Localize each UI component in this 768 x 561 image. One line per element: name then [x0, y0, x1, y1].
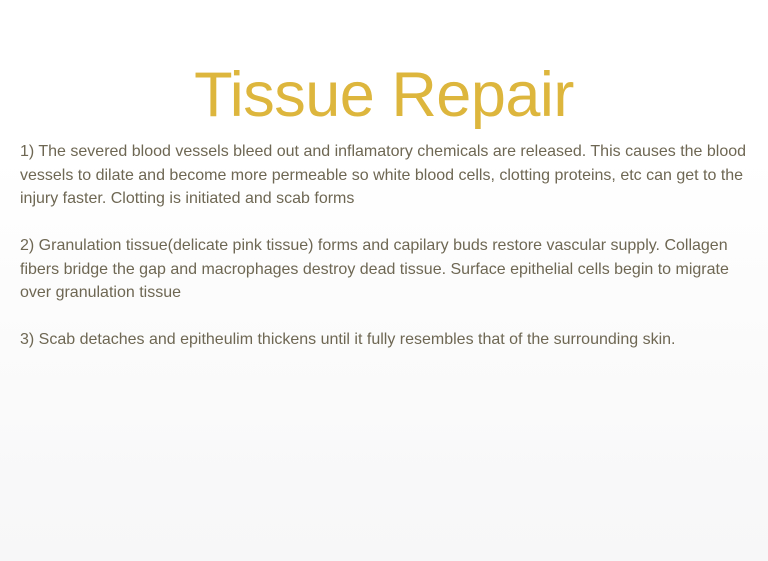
page-title: Tissue Repair	[0, 64, 768, 127]
slide-canvas: Tissue Repair 1) The severed blood vesse…	[0, 0, 768, 561]
body-paragraph-3: 3) Scab detaches and epitheulim thickens…	[20, 328, 752, 352]
body-paragraph-1: 1) The severed blood vessels bleed out a…	[20, 140, 752, 211]
body-paragraph-2: 2) Granulation tissue(delicate pink tiss…	[20, 234, 752, 305]
slide-body: 1) The severed blood vessels bleed out a…	[20, 140, 752, 352]
